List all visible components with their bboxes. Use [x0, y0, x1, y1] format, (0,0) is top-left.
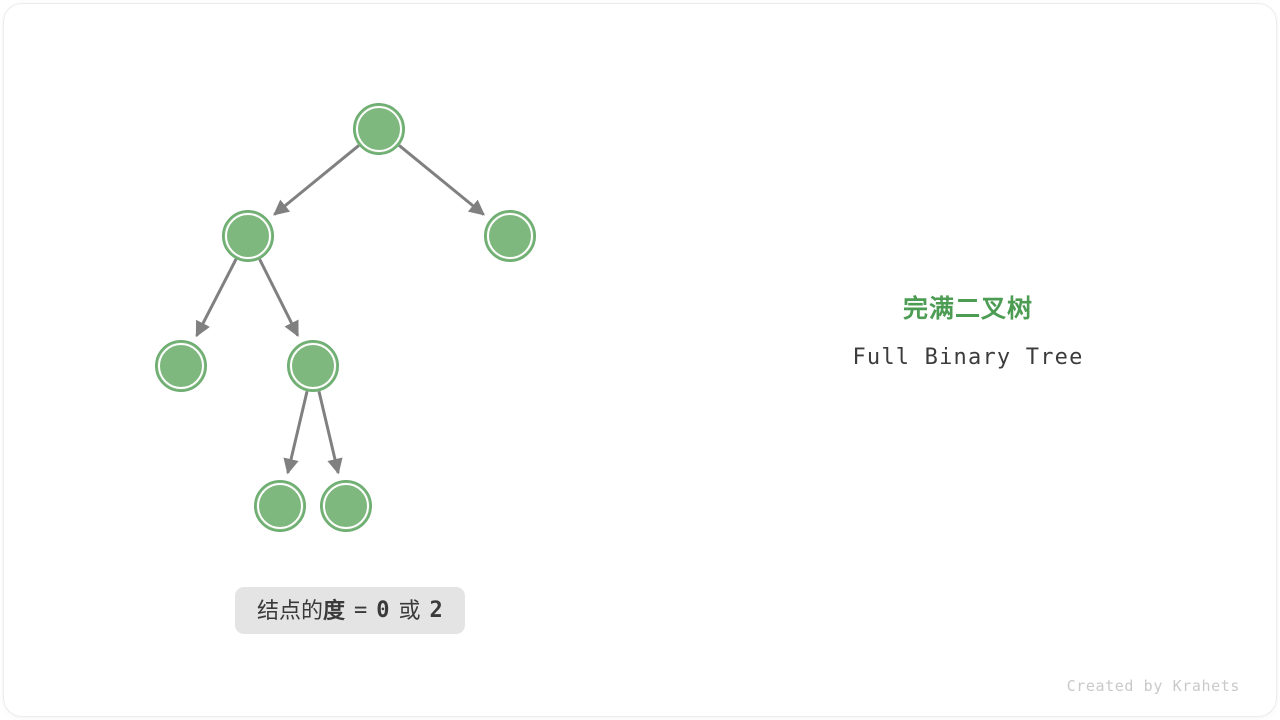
tree-edge	[260, 259, 298, 335]
degree-annotation-label: 结点的度=0或2	[235, 587, 465, 634]
tree-node	[354, 104, 404, 154]
caption-title: 完满二叉树	[768, 292, 1168, 326]
tree-edge	[274, 145, 359, 214]
tree-node-body	[359, 109, 399, 149]
degree-label-or-word: 或	[399, 597, 421, 624]
tree-node	[156, 341, 206, 391]
tree-node-body	[228, 216, 268, 256]
degree-label-equals: =	[354, 597, 367, 624]
caption-block: 完满二叉树 Full Binary Tree	[768, 292, 1168, 372]
degree-label-value-two: 2	[430, 597, 443, 624]
tree-edges	[197, 145, 484, 472]
tree-node	[223, 211, 273, 261]
tree-edge	[197, 259, 237, 336]
tree-node-body	[260, 486, 300, 526]
tree-node	[485, 211, 535, 261]
tree-node	[321, 481, 371, 531]
tree-node	[288, 341, 338, 391]
credit-text: Created by Krahets	[1067, 677, 1240, 695]
tree-node-body	[490, 216, 530, 256]
tree-edge	[399, 145, 484, 214]
tree-edge	[288, 391, 307, 473]
tree-node-body	[326, 486, 366, 526]
caption-subtitle: Full Binary Tree	[768, 344, 1168, 372]
tree-nodes	[156, 104, 535, 531]
degree-label-value-zero: 0	[376, 597, 389, 624]
tree-edge	[319, 391, 338, 473]
tree-node-body	[161, 346, 201, 386]
degree-label-degree-word: 度	[323, 597, 345, 624]
tree-node	[255, 481, 305, 531]
figure-canvas: 完满二叉树 Full Binary Tree 结点的度=0或2 Created …	[0, 0, 1280, 720]
tree-node-body	[293, 346, 333, 386]
degree-label-prefix: 结点的	[257, 597, 323, 624]
